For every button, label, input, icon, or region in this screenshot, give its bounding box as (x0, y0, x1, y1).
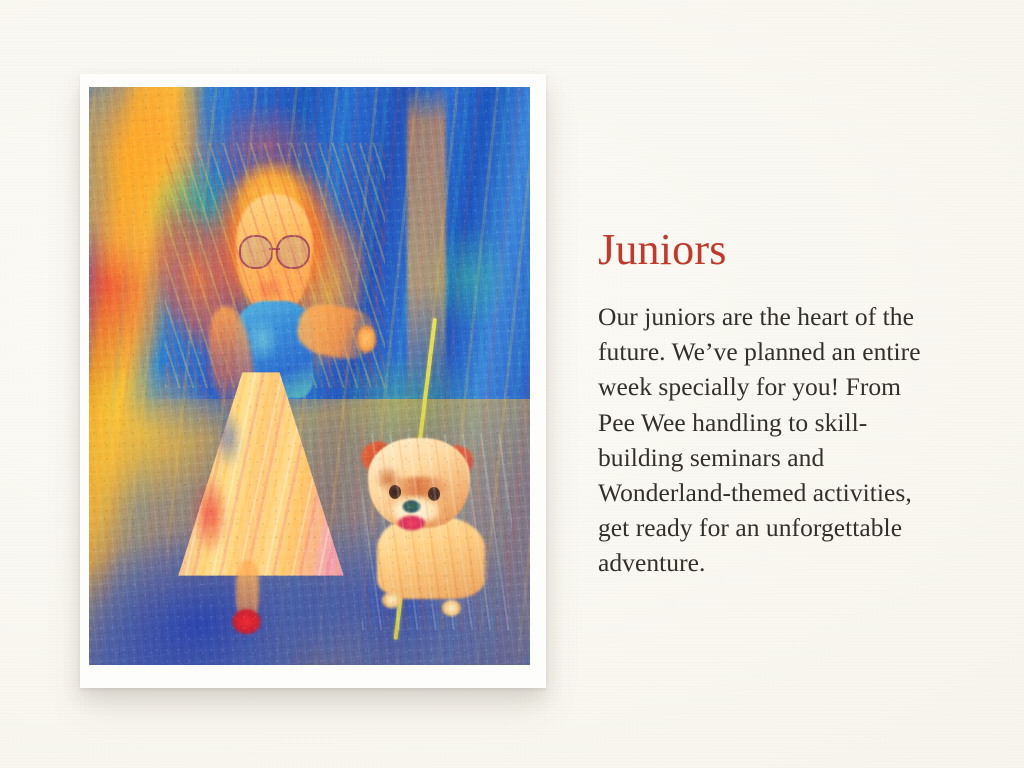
artwork-frame[interactable] (80, 74, 546, 688)
bulldog-brushstrokes (362, 434, 512, 631)
slide-canvas: Juniors Our juniors are the heart of the… (0, 0, 1024, 768)
girl-skirt-red-accent (185, 459, 236, 571)
text-column: Juniors Our juniors are the heart of the… (598, 228, 950, 581)
artwork-image (89, 87, 530, 665)
painting-bulldog (362, 434, 512, 631)
body-paragraph: Our juniors are the heart of the future.… (598, 299, 943, 581)
page-title: Juniors (598, 228, 950, 272)
girl-red-shoe (229, 606, 265, 637)
